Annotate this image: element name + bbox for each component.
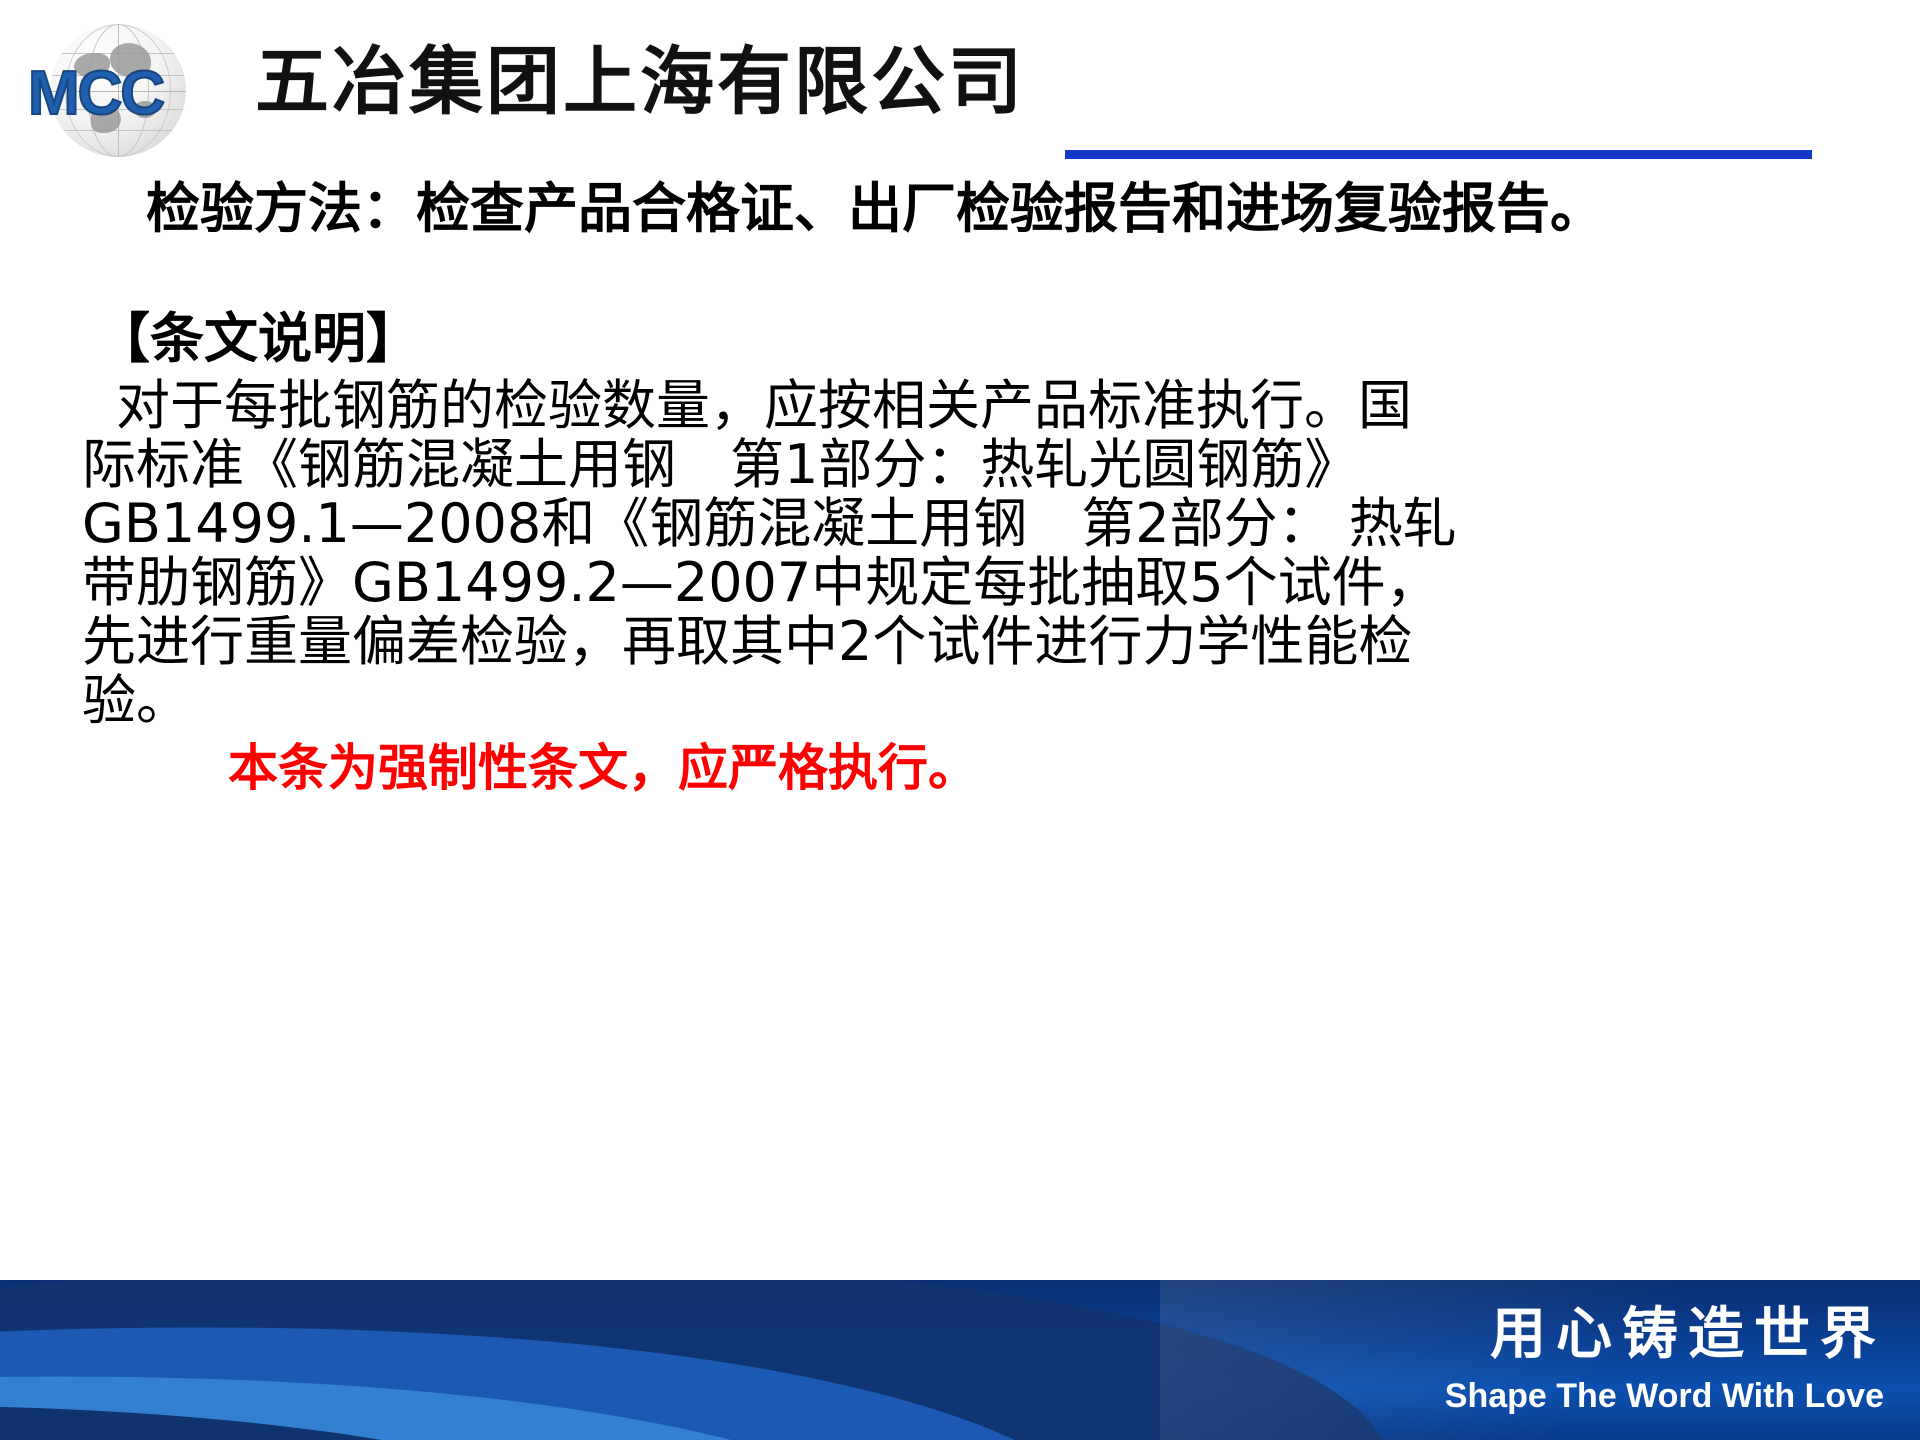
company-name: 五冶集团上海有限公司: [255, 40, 1025, 124]
inspection-method-label: 检验方法：检查产品合格证、出厂检验报告和进场复验报告。: [146, 177, 1604, 240]
footer-slogan-cn: 用心铸造世界: [1490, 1304, 1886, 1366]
section-heading: 【条文说明】: [96, 308, 420, 370]
explanation-line: 带肋钢筋》GB1499.2—2007中规定每批抽取5个试件，: [82, 553, 1822, 612]
logo-wordmark: MCC: [28, 64, 268, 126]
explanation-paragraph: 对于每批钢筋的检验数量，应按相关产品标准执行。国 际标准《钢筋混凝土用钢 第1部…: [82, 376, 1822, 730]
slide: MCC 五冶集团上海有限公司 检验方法：检查产品合格证、出厂检验报告和进场复验报…: [0, 0, 1920, 1440]
slide-footer: 用心铸造世界 Shape The Word With Love: [0, 1280, 1920, 1440]
slide-header: MCC 五冶集团上海有限公司: [0, 0, 1920, 178]
mcc-globe-logo: MCC: [28, 22, 248, 157]
explanation-line: 验。: [82, 671, 1822, 730]
explanation-line: 际标准《钢筋混凝土用钢 第1部分：热轧光圆钢筋》: [82, 435, 1822, 494]
explanation-line: GB1499.1—2008和《钢筋混凝土用钢 第2部分： 热轧: [82, 494, 1822, 553]
explanation-line: 先进行重量偏差检验，再取其中2个试件进行力学性能检: [82, 612, 1822, 671]
explanation-line: 对于每批钢筋的检验数量，应按相关产品标准执行。国: [82, 376, 1822, 435]
inspection-method-text: 检验方法：检查产品合格证、出厂检验报告和进场复验报告。: [78, 178, 1808, 240]
header-divider: [1065, 150, 1812, 159]
globe-parallel-icon: [50, 130, 186, 131]
footer-slogan-en: Shape The Word With Love: [1445, 1376, 1884, 1416]
mandatory-clause-note: 本条为强制性条文，应严格执行。: [228, 738, 978, 798]
